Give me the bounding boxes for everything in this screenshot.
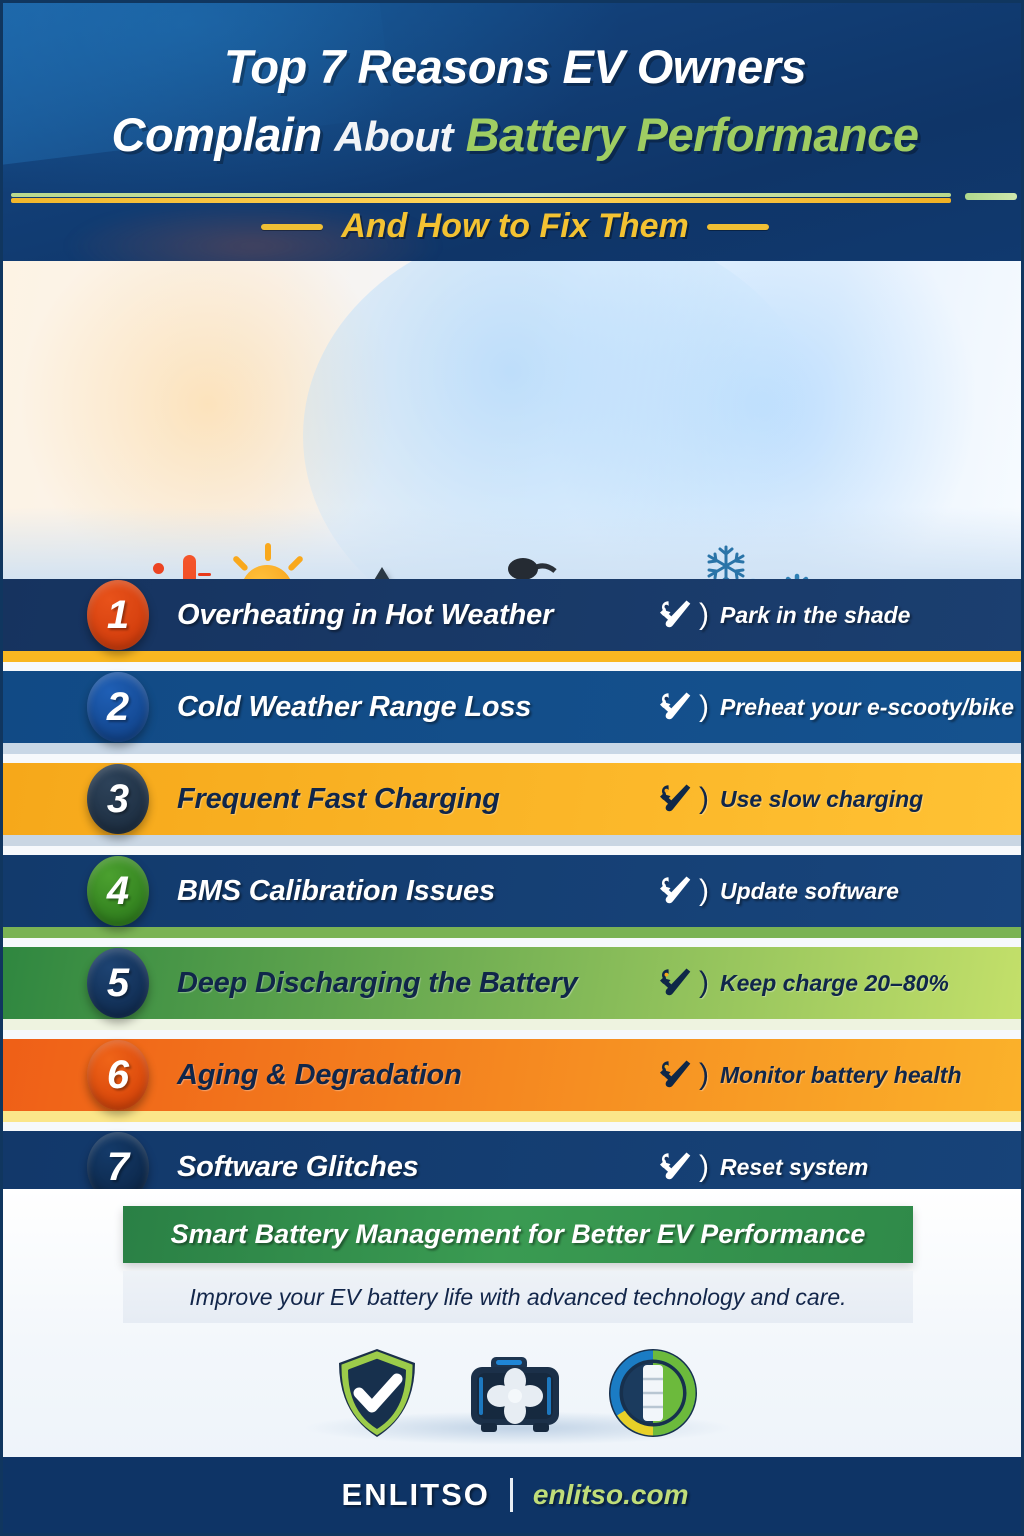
- reason-title: Deep Discharging the Battery: [177, 967, 578, 1000]
- reason-row-4[interactable]: 4 BMS Calibration Issues ) Update softwa…: [3, 855, 1024, 927]
- wrench-tool-icon: [658, 691, 692, 723]
- paren-glyph: ): [699, 876, 709, 906]
- paren-glyph: ): [699, 600, 709, 630]
- fix-group: ) Monitor battery health: [658, 1059, 962, 1091]
- header-banner: Top 7 Reasons EV Owners Complain About B…: [3, 3, 1024, 261]
- reason-number: 7: [107, 1145, 129, 1190]
- row-gap: [3, 754, 1024, 763]
- title-block: Top 7 Reasons EV Owners Complain About B…: [3, 33, 1024, 171]
- wrench-tool-icon: [658, 1059, 692, 1091]
- list-item[interactable]: 2 Cold Weather Range Loss ) Preheat your…: [3, 671, 1024, 763]
- reason-title: Cold Weather Range Loss: [177, 691, 531, 724]
- reason-row-2[interactable]: 2 Cold Weather Range Loss ) Preheat your…: [3, 671, 1024, 743]
- header-rule-green: [11, 193, 951, 197]
- title-line-2: Complain About Battery Performance: [3, 101, 1024, 171]
- reason-row-3[interactable]: 3 Frequent Fast Charging ) Use slow char…: [3, 763, 1024, 835]
- reason-number: 4: [107, 869, 129, 914]
- reason-number-badge: 2: [87, 672, 149, 742]
- cta-headline-bar: Smart Battery Management for Better EV P…: [123, 1206, 913, 1263]
- row-accent-stripe: [3, 835, 1024, 846]
- fix-text: Update software: [720, 878, 899, 905]
- row-accent-stripe: [3, 743, 1024, 754]
- title-word-complain: Complain: [112, 108, 322, 161]
- row-accent-stripe: [3, 1019, 1024, 1030]
- reason-number: 6: [107, 1053, 129, 1098]
- battery-pack-fan-icon: [463, 1341, 567, 1445]
- subtitle-text: And How to Fix Them: [341, 207, 689, 246]
- cta-subtext-bar: Improve your EV battery life with advanc…: [123, 1271, 913, 1323]
- warning-triangle-icon: [321, 561, 443, 579]
- fix-group: ) Park in the shade: [658, 599, 910, 631]
- snowflake-icon: [761, 571, 833, 579]
- subtitle-dash-left: [261, 224, 323, 230]
- subtitle-dash-right: [707, 224, 769, 230]
- row-accent-stripe: [3, 651, 1024, 662]
- title-word-battery-performance: Battery Performance: [466, 108, 919, 161]
- shield-check-icon: [325, 1341, 429, 1445]
- fix-text: Monitor battery health: [720, 1062, 962, 1089]
- reason-number: 1: [107, 593, 129, 638]
- reason-number-badge: 6: [87, 1040, 149, 1110]
- infographic-poster: Top 7 Reasons EV Owners Complain About B…: [0, 0, 1024, 1536]
- reason-number: 3: [107, 777, 129, 822]
- paren-glyph: ): [699, 1060, 709, 1090]
- fix-text: Keep charge 20–80%: [720, 970, 949, 997]
- row-gap: [3, 846, 1024, 855]
- title-line-1-text: Top 7 Reasons EV Owners: [224, 40, 806, 93]
- paren-glyph: ): [699, 1152, 709, 1182]
- reason-number-badge: 3: [87, 764, 149, 834]
- cta-subtext: Improve your EV battery life with advanc…: [189, 1284, 846, 1311]
- fix-text: Park in the shade: [720, 602, 910, 629]
- wrench-tool-icon: [658, 1151, 692, 1183]
- reason-number: 5: [107, 961, 129, 1006]
- hero-illustration: [3, 261, 1024, 579]
- subtitle-block: And How to Fix Them: [3, 207, 1024, 246]
- reasons-list: 1 Overheating in Hot Weather ) Park in t…: [3, 579, 1024, 1223]
- fix-group: ) Update software: [658, 875, 899, 907]
- reason-number-badge: 5: [87, 948, 149, 1018]
- title-word-about: About: [334, 113, 453, 160]
- reason-title: Frequent Fast Charging: [177, 783, 500, 816]
- cta-icon-row: [3, 1335, 1024, 1451]
- reason-number-badge: 4: [87, 856, 149, 926]
- list-item[interactable]: 4 BMS Calibration Issues ) Update softwa…: [3, 855, 1024, 947]
- list-item[interactable]: 3 Frequent Fast Charging ) Use slow char…: [3, 763, 1024, 855]
- row-gap: [3, 662, 1024, 671]
- website-url[interactable]: enlitso.com: [533, 1479, 689, 1511]
- list-item[interactable]: 1 Overheating in Hot Weather ) Park in t…: [3, 579, 1024, 671]
- list-item[interactable]: 5 Deep Discharging the Battery ) Keep ch…: [3, 947, 1024, 1039]
- row-accent-stripe: [3, 1111, 1024, 1122]
- fix-group: ) Use slow charging: [658, 783, 923, 815]
- footer-bar: ENLITSO enlitso.com: [3, 1457, 1024, 1533]
- wrench-tool-icon: [658, 783, 692, 815]
- reason-row-5[interactable]: 5 Deep Discharging the Battery ) Keep ch…: [3, 947, 1024, 1019]
- sun-icon: [221, 545, 313, 579]
- cta-section: Smart Battery Management for Better EV P…: [3, 1189, 1024, 1463]
- reason-row-6[interactable]: 6 Aging & Degradation ) Monitor battery …: [3, 1039, 1024, 1111]
- electric-scooter-image: [433, 533, 733, 579]
- paren-glyph: ): [699, 968, 709, 998]
- title-line-1: Top 7 Reasons EV Owners: [3, 33, 1024, 101]
- reason-title: Software Glitches: [177, 1151, 419, 1184]
- wrench-tool-icon: [658, 967, 692, 999]
- row-gap: [3, 1122, 1024, 1131]
- wrench-tool-icon: [658, 599, 692, 631]
- battery-gauge-icon: [601, 1341, 705, 1445]
- row-accent-stripe: [3, 927, 1024, 938]
- fix-group: ) Reset system: [658, 1151, 868, 1183]
- row-gap: [3, 1030, 1024, 1039]
- reason-number: 2: [107, 685, 129, 730]
- list-item[interactable]: 6 Aging & Degradation ) Monitor battery …: [3, 1039, 1024, 1131]
- reason-title: BMS Calibration Issues: [177, 875, 495, 908]
- thermometer-icon: [175, 555, 201, 579]
- reason-number-badge: 1: [87, 580, 149, 650]
- fix-text: Use slow charging: [720, 786, 923, 813]
- paren-glyph: ): [699, 784, 709, 814]
- fix-text: Preheat your e-scooty/bike: [720, 694, 1014, 721]
- reason-title: Aging & Degradation: [177, 1059, 462, 1092]
- footer-divider: [510, 1478, 513, 1512]
- fix-text: Reset system: [720, 1154, 868, 1181]
- wrench-tool-icon: [658, 875, 692, 907]
- cta-headline-text: Smart Battery Management for Better EV P…: [171, 1219, 866, 1250]
- fix-group: ) Keep charge 20–80%: [658, 967, 949, 999]
- paren-glyph: ): [699, 692, 709, 722]
- reason-row-1[interactable]: 1 Overheating in Hot Weather ) Park in t…: [3, 579, 1024, 651]
- row-gap: [3, 938, 1024, 947]
- brand-name: ENLITSO: [342, 1477, 490, 1513]
- fix-group: ) Preheat your e-scooty/bike: [658, 691, 1014, 723]
- reason-title: Overheating in Hot Weather: [177, 599, 553, 632]
- header-rule-gold: [11, 198, 951, 203]
- header-rule-dash: [965, 193, 1017, 200]
